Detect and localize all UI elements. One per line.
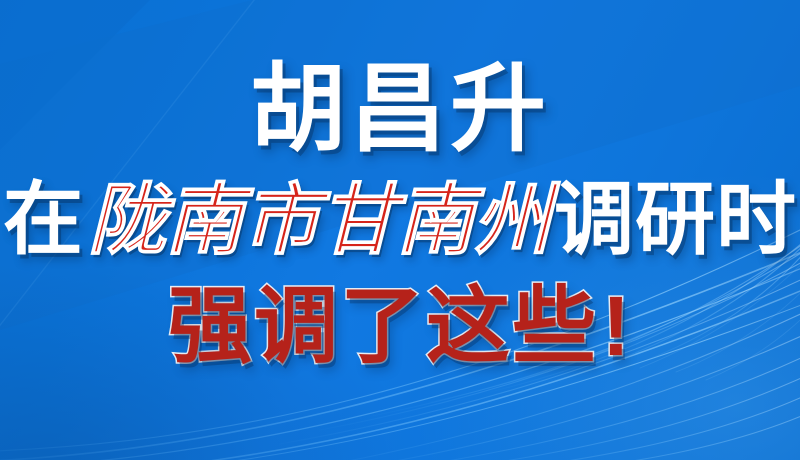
headline-line2-place: 陇南市甘南州 [84, 182, 554, 260]
headline-line3-text: 强调了这些 [168, 284, 598, 368]
headline-line-1: 胡昌升 [250, 62, 550, 158]
headline-line2-prefix: 在 [3, 180, 84, 260]
headline-line1-name: 胡昌升 [250, 62, 550, 158]
banner-poster: 胡昌升 在 陇南市甘南州 调研时 强调了这些 ! [0, 0, 800, 460]
headline-line2-suffix: 调研时 [554, 180, 797, 260]
headline-line-2: 在 陇南市甘南州 调研时 [3, 180, 797, 260]
headline-line-3: 强调了这些 ! [168, 284, 632, 368]
headline-line3-exclamation: ! [602, 284, 632, 368]
headline-block: 胡昌升 在 陇南市甘南州 调研时 强调了这些 ! [0, 0, 800, 460]
